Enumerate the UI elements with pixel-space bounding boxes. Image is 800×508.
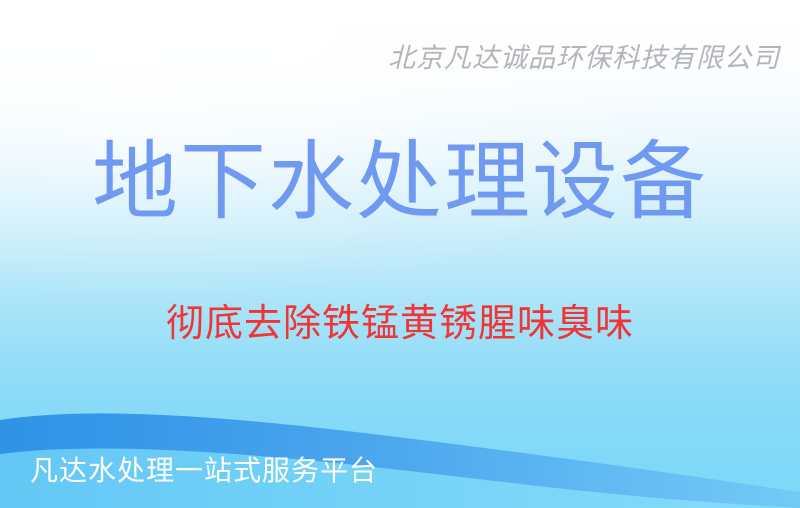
subtitle: 彻底去除铁锰黄锈腥味臭味 xyxy=(0,292,800,347)
wave-decoration xyxy=(0,388,800,508)
page-title: 地下水处理设备 xyxy=(0,137,800,227)
promo-banner: 北京凡达诚品环保科技有限公司 地下水处理设备 彻底去除铁锰黄锈腥味臭味 xyxy=(0,0,800,508)
company-name: 北京凡达诚品环保科技有限公司 xyxy=(388,36,780,75)
tagline: 凡达水处理一站式服务平台 xyxy=(30,449,378,489)
wave-svg xyxy=(0,388,800,508)
